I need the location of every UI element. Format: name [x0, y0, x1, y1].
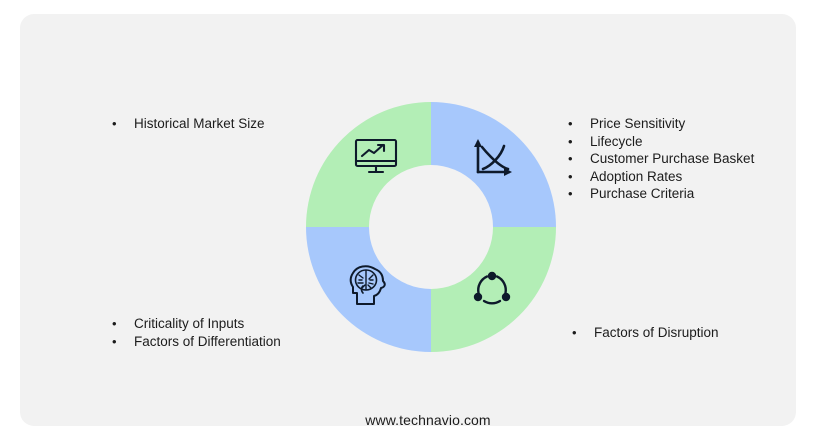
bullet-icon: •	[568, 115, 590, 133]
label-group-bottom-left: • Criticality of Inputs • Factors of Dif…	[112, 315, 281, 350]
list-item: • Purchase Criteria	[568, 185, 754, 203]
list-item: • Price Sensitivity	[568, 115, 754, 133]
list-item: • Historical Market Size	[112, 115, 265, 133]
footer-url: www.technavio.com	[20, 412, 816, 428]
list-item-label: Customer Purchase Basket	[590, 150, 754, 168]
list-item-label: Price Sensitivity	[590, 115, 685, 133]
supply-demand-axis-icon	[465, 130, 521, 186]
bullet-icon: •	[112, 333, 134, 351]
list-item: • Adoption Rates	[568, 168, 754, 186]
network-nodes-icon	[464, 262, 520, 318]
list-item-label: Lifecycle	[590, 133, 643, 151]
bullet-icon: •	[568, 168, 590, 186]
list-item: • Customer Purchase Basket	[568, 150, 754, 168]
list-item-label: Factors of Disruption	[594, 324, 719, 342]
bullet-icon: •	[112, 315, 134, 333]
label-group-bottom-right: • Factors of Disruption	[572, 324, 719, 342]
label-group-top-left: • Historical Market Size	[112, 115, 265, 133]
list-item-label: Factors of Differentiation	[134, 333, 281, 351]
list-item: • Criticality of Inputs	[112, 315, 281, 333]
list-item-label: Adoption Rates	[590, 168, 682, 186]
list-item: • Factors of Disruption	[572, 324, 719, 342]
list-item-label: Historical Market Size	[134, 115, 265, 133]
diagram-canvas: • Historical Market Size • Price Sensiti…	[0, 0, 816, 439]
list-item: • Factors of Differentiation	[112, 333, 281, 351]
list-item: • Lifecycle	[568, 133, 754, 151]
bullet-icon: •	[572, 324, 594, 342]
bullet-icon: •	[568, 150, 590, 168]
diagram-card: • Historical Market Size • Price Sensiti…	[20, 14, 796, 426]
list-item-label: Purchase Criteria	[590, 185, 694, 203]
bullet-icon: •	[568, 185, 590, 203]
monitor-trend-icon	[348, 130, 404, 186]
list-item-label: Criticality of Inputs	[134, 315, 244, 333]
label-group-top-right: • Price Sensitivity • Lifecycle • Custom…	[568, 115, 754, 203]
head-brain-icon	[340, 257, 396, 313]
bullet-icon: •	[568, 133, 590, 151]
bullet-icon: •	[112, 115, 134, 133]
